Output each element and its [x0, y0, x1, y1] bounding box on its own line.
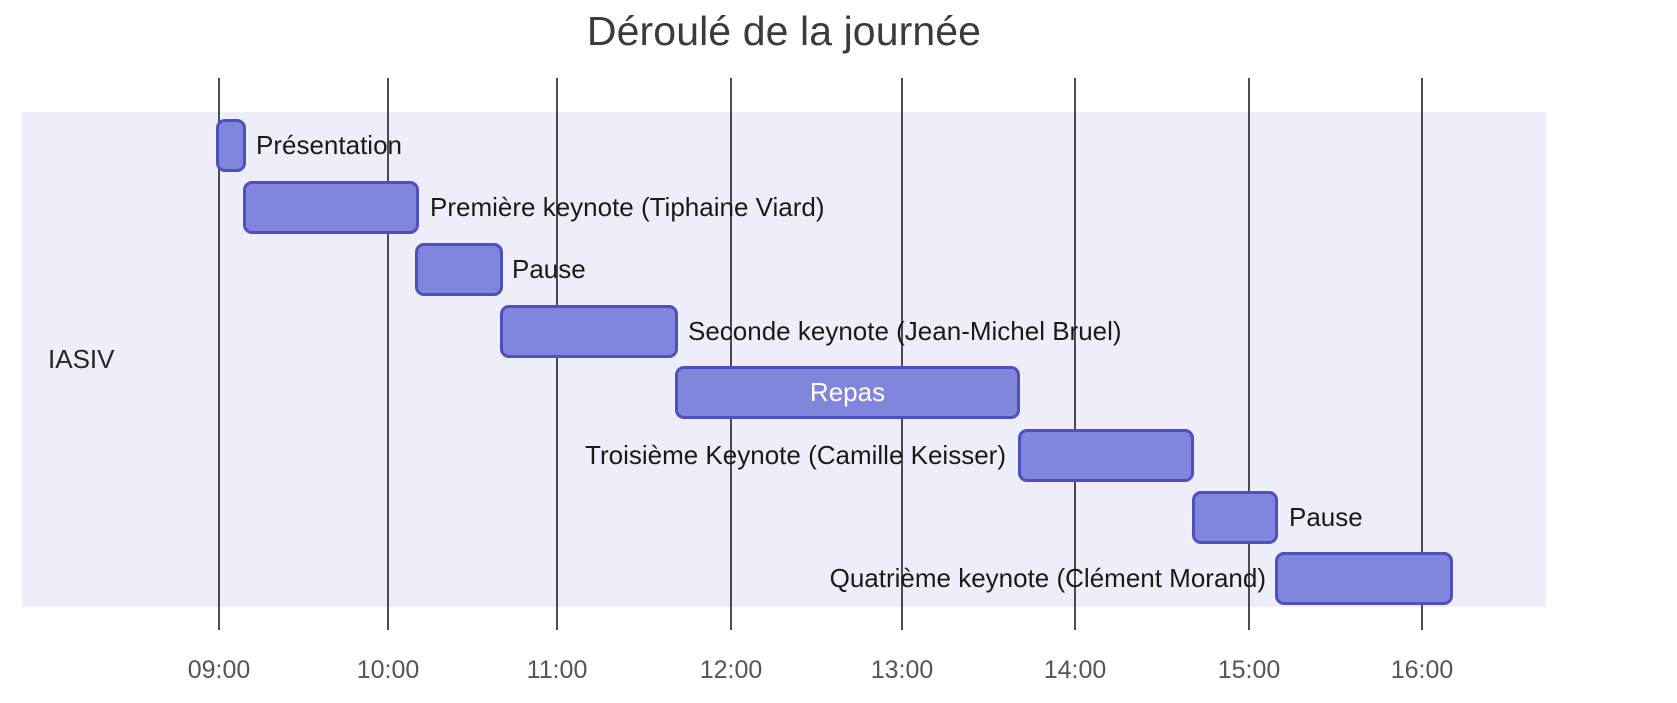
x-tick-label: 10:00: [357, 656, 420, 685]
task-bar[interactable]: [1275, 552, 1453, 605]
task-bar[interactable]: [216, 119, 246, 172]
x-tick-label: 11:00: [527, 656, 588, 685]
task-label: Seconde keynote (Jean-Michel Bruel): [688, 318, 1122, 344]
x-tick-label: 16:00: [1391, 656, 1454, 685]
task-bar[interactable]: [243, 181, 419, 234]
task-label: Présentation: [256, 132, 402, 158]
task-label: Pause: [1289, 504, 1363, 530]
gridline-1300: [901, 78, 903, 630]
x-tick-label: 12:00: [700, 656, 763, 685]
x-tick-label: 09:00: [188, 656, 251, 685]
y-axis-category-label: IASIV: [48, 344, 114, 375]
x-tick-label: 15:00: [1218, 656, 1281, 685]
x-tick-label: 14:00: [1044, 656, 1107, 685]
gantt-chart: Déroulé de la journée 09:0010:0011:0012:…: [0, 0, 1677, 703]
x-tick-label: 13:00: [871, 656, 934, 685]
gridline-1500: [1248, 78, 1250, 630]
task-bar[interactable]: [415, 243, 503, 296]
task-bar[interactable]: [500, 305, 678, 358]
task-bar[interactable]: [1192, 491, 1278, 544]
task-label: Troisième Keynote (Camille Keisser): [585, 442, 1006, 468]
task-label: Première keynote (Tiphaine Viard): [430, 194, 825, 220]
task-label: Quatrième keynote (Clément Morand): [830, 565, 1266, 591]
task-bar[interactable]: Repas: [675, 366, 1020, 419]
task-label: Pause: [512, 256, 586, 282]
gridline-1400: [1074, 78, 1076, 630]
chart-title: Déroulé de la journée: [0, 8, 1568, 55]
task-bar-inner-label: Repas: [678, 369, 1017, 416]
task-bar[interactable]: [1018, 429, 1194, 482]
gridline-1600: [1421, 78, 1423, 630]
gridline-1000: [387, 78, 389, 630]
gridline-1200: [730, 78, 732, 630]
